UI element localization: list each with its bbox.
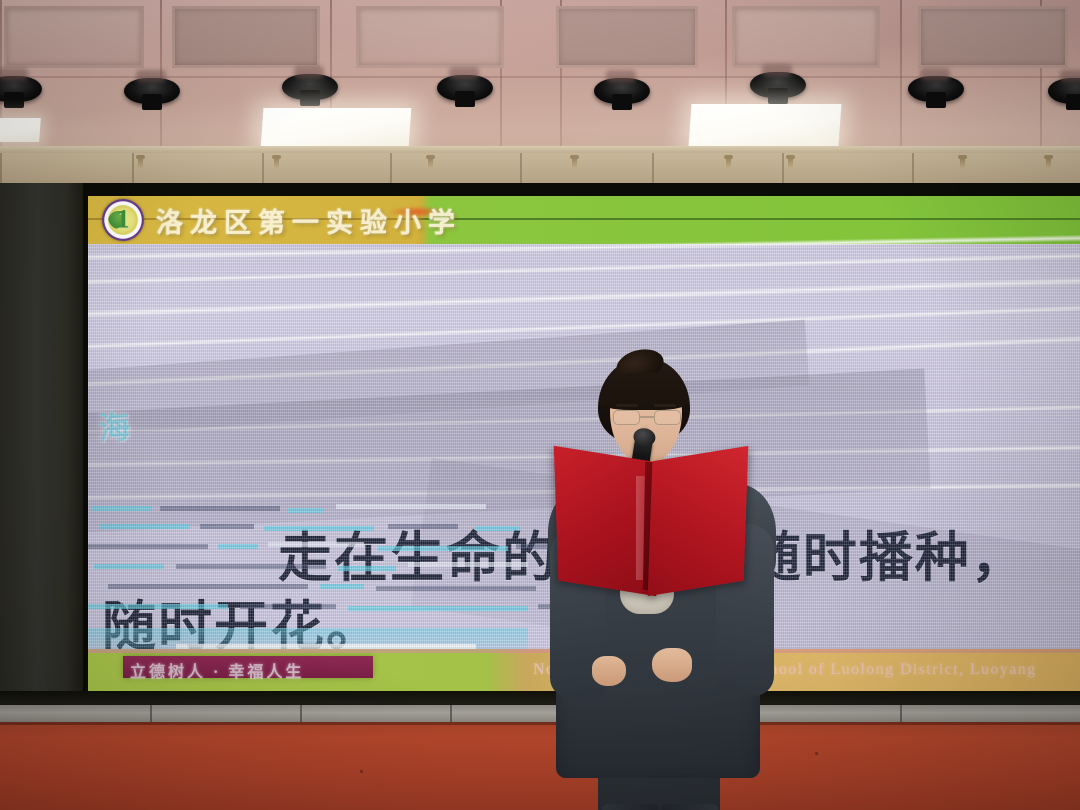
left-lens — [613, 410, 640, 425]
ceiling-vent-panel — [356, 6, 504, 68]
school-name-cn: 洛龙区第一实验小学 — [156, 201, 462, 240]
downlight-fixture — [594, 78, 650, 104]
screen-frame-top — [0, 183, 1080, 196]
ceiling — [0, 0, 1080, 152]
ceiling-vent-panel — [556, 6, 698, 68]
wall-hook — [274, 155, 279, 169]
ceiling-vent-panel — [4, 6, 144, 68]
left-leg — [602, 804, 658, 810]
wall-hook — [788, 155, 793, 169]
folder-right-cover — [648, 446, 749, 596]
ceiling-vent-panel — [732, 6, 880, 68]
left-eyebrow — [616, 404, 638, 407]
right-hand — [652, 648, 692, 682]
wall-hook — [726, 155, 731, 169]
wall-hook — [572, 155, 577, 169]
school-logo-icon: 1 — [102, 199, 144, 241]
ceiling-vent-panel — [918, 6, 1068, 68]
auditorium-scene: 1 洛龙区第一实验小学 海 走在生命的两岸， 随时播种， 随时开花 — [0, 0, 1080, 810]
wall-hook — [960, 155, 965, 169]
right-eyebrow — [654, 404, 676, 407]
left-hand — [592, 656, 626, 686]
ceiling-panel-light — [0, 118, 41, 142]
wall-hook — [428, 155, 433, 169]
ceiling-seam — [900, 0, 902, 152]
downlight-fixture — [437, 75, 493, 101]
right-leg — [662, 804, 718, 810]
ceiling-panel-light — [261, 108, 412, 148]
glasses-bridge — [640, 416, 654, 418]
screen-frame-left-pillar — [0, 183, 88, 713]
wall-hook — [138, 155, 143, 169]
wall-hook — [1046, 155, 1051, 169]
logo-numeral: 1 — [117, 204, 130, 234]
ceiling-panel-light — [689, 104, 842, 146]
downlight-fixture — [750, 72, 806, 98]
downlight-fixture — [908, 76, 964, 102]
downlight-fixture — [282, 74, 338, 100]
downlight-fixture — [124, 78, 180, 104]
wall-rail — [0, 146, 1080, 153]
calligraphy-watermark: 海 — [96, 400, 147, 449]
presenter — [540, 358, 780, 810]
wood-panel-wall — [0, 146, 1080, 188]
footer-slogan-cn: 立德树人 · 幸福人生 — [130, 658, 304, 682]
right-lens — [654, 410, 681, 425]
ceiling-vent-panel — [172, 6, 320, 68]
eyeglasses-icon — [612, 410, 682, 425]
